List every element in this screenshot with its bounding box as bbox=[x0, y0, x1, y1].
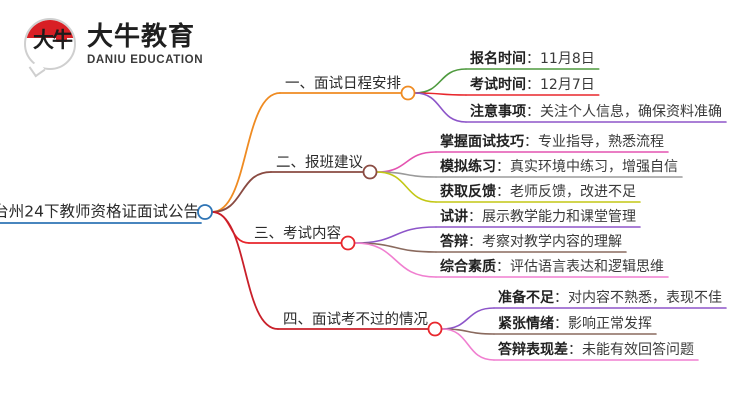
leaf-lead-text: 获取反馈 bbox=[440, 184, 496, 200]
leaf-lead-text: 综合素质 bbox=[440, 259, 496, 275]
mindmap-leaf-3-1[interactable]: 试讲：展示教学能力和课堂管理 bbox=[440, 210, 636, 224]
mindmap-leaf-2-3[interactable]: 获取反馈：老师反馈，改进不足 bbox=[440, 185, 636, 199]
mindmap-branch-node-2[interactable]: 二、报班建议 bbox=[276, 156, 363, 171]
leaf-rest-text: ：考察对教学内容的理解 bbox=[468, 234, 622, 250]
mindmap-leaf-1-1[interactable]: 报名时间：11月8日 bbox=[470, 52, 595, 66]
leaf-rest-text: ：展示教学能力和课堂管理 bbox=[468, 209, 636, 225]
mindmap-branch-node-3[interactable]: 三、考试内容 bbox=[254, 227, 341, 242]
leaf-lead-text: 模拟练习 bbox=[440, 159, 496, 175]
leaf-rest-text: ：真实环境中练习，增强自信 bbox=[496, 159, 678, 175]
leaf-rest-text: ：11月8日 bbox=[526, 51, 595, 67]
leaf-rest-text: ：对内容不熟悉，表现不佳 bbox=[554, 290, 722, 306]
leaf-lead-text: 考试时间 bbox=[470, 77, 526, 93]
mindmap-leaf-1-2[interactable]: 考试时间：12月7日 bbox=[470, 78, 595, 92]
leaf-rest-text: ：12月7日 bbox=[526, 77, 595, 93]
leaf-lead-text: 答辩 bbox=[440, 234, 468, 250]
leaf-lead-text: 准备不足 bbox=[498, 290, 554, 306]
mindmap-leaf-3-3[interactable]: 综合素质：评估语言表达和逻辑思维 bbox=[440, 260, 664, 274]
leaf-rest-text: ：影响正常发挥 bbox=[554, 316, 652, 332]
mindmap-leaf-1-3[interactable]: 注意事项：关注个人信息，确保资料准确 bbox=[470, 105, 722, 119]
leaf-lead-text: 试讲 bbox=[440, 209, 468, 225]
mindmap-branch-node-4[interactable]: 四、面试考不过的情况 bbox=[283, 313, 428, 328]
leaf-lead-text: 注意事项 bbox=[470, 104, 526, 120]
leaf-lead-text: 报名时间 bbox=[470, 51, 526, 67]
leaf-rest-text: ：专业指导，熟悉流程 bbox=[524, 134, 664, 150]
leaf-rest-text: ：未能有效回答问题 bbox=[568, 342, 694, 358]
leaf-rest-text: ：关注个人信息，确保资料准确 bbox=[526, 104, 722, 120]
mindmap-leaf-3-2[interactable]: 答辩：考察对教学内容的理解 bbox=[440, 235, 622, 249]
mindmap-leaf-4-1[interactable]: 准备不足：对内容不熟悉，表现不佳 bbox=[498, 291, 722, 305]
mindmap-leaf-2-1[interactable]: 掌握面试技巧：专业指导，熟悉流程 bbox=[440, 135, 664, 149]
leaf-lead-text: 紧张情绪 bbox=[498, 316, 554, 332]
mindmap-leaf-2-2[interactable]: 模拟练习：真实环境中练习，增强自信 bbox=[440, 160, 678, 174]
mindmap-leaf-4-3[interactable]: 答辩表现差：未能有效回答问题 bbox=[498, 343, 694, 357]
leaf-lead-text: 掌握面试技巧 bbox=[440, 134, 524, 150]
mindmap-branch-node-1[interactable]: 一、面试日程安排 bbox=[285, 77, 401, 92]
mindmap-leaf-4-2[interactable]: 紧张情绪：影响正常发挥 bbox=[498, 317, 652, 331]
leaf-rest-text: ：老师反馈，改进不足 bbox=[496, 184, 636, 200]
leaf-rest-text: ：评估语言表达和逻辑思维 bbox=[496, 259, 664, 275]
leaf-lead-text: 答辩表现差 bbox=[498, 342, 568, 358]
mindmap-root-node[interactable]: 台州24下教师资格证面试公告 bbox=[0, 204, 199, 220]
